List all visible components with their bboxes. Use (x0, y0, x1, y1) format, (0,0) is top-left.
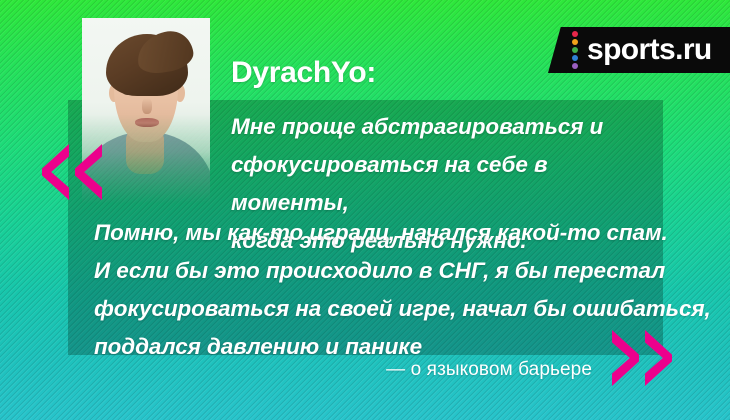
quote-paragraph-2: Помню, мы как-то играли, начался какой-т… (94, 214, 664, 366)
chevron-left-icon-1 (42, 144, 69, 200)
quote-line: Мне проще абстрагироваться и (231, 108, 661, 146)
quote-line: Помню, мы как-то играли, начался какой-т… (94, 214, 664, 252)
sports-ru-logo[interactable]: sports.ru (548, 27, 730, 73)
speaker-name: DyrachYo: (231, 56, 376, 90)
dot-green-icon (572, 47, 578, 53)
dot-orange-icon (572, 39, 578, 45)
quote-card: sports.ru DyrachYo: Мне проще абстрагиро… (0, 0, 730, 420)
open-quote-icon (42, 144, 102, 200)
portrait-nose (142, 98, 152, 114)
quote-attribution: — о языковом барьере (0, 359, 592, 381)
portrait-mouth (135, 118, 159, 127)
quote-line: фокусироваться на своей игре, начал бы о… (94, 290, 664, 328)
logo-dots (572, 31, 578, 69)
logo-wordmark: sports.ru (587, 35, 712, 65)
quote-line: сфокусироваться на себе в моменты, (231, 146, 661, 222)
dot-purple-icon (572, 63, 578, 69)
dot-red-icon (572, 31, 578, 37)
chevron-left-icon-2 (75, 144, 102, 200)
quote-text: Мне проще абстрагироваться и сфокусирова… (231, 108, 661, 260)
quote-line: И если бы это происходило в СНГ, я бы пе… (94, 252, 664, 290)
dot-blue-icon (572, 55, 578, 61)
